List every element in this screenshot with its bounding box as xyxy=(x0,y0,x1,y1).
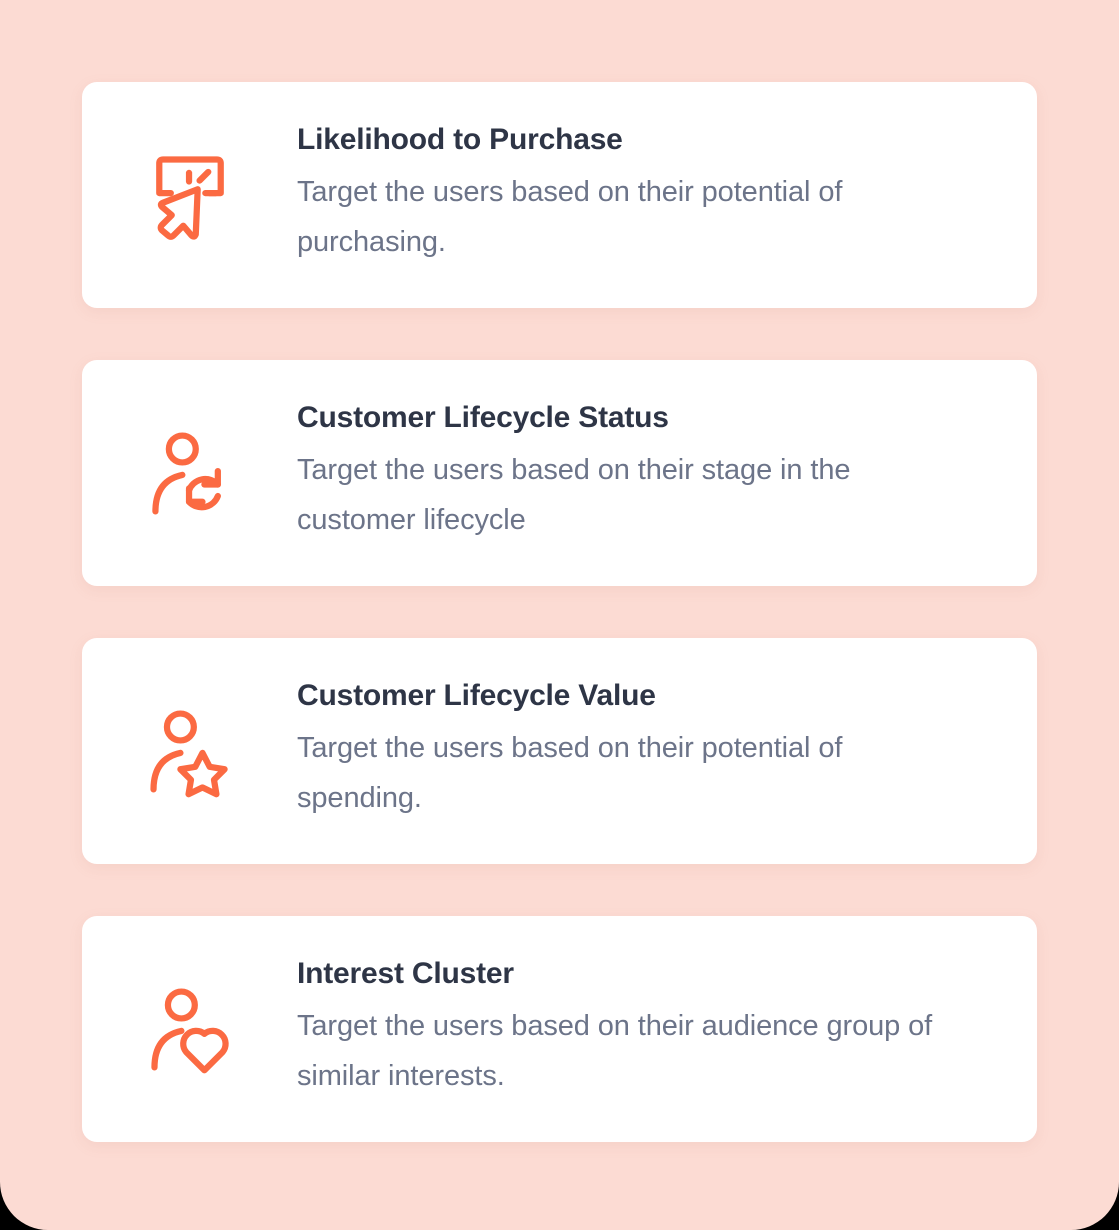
icon-cell xyxy=(82,638,297,864)
text-cell: Interest Cluster Target the users based … xyxy=(297,957,1009,1102)
ad-click-cursor-icon xyxy=(142,147,238,243)
text-cell: Likelihood to Purchase Target the users … xyxy=(297,123,1009,268)
card-description: Target the users based on their audience… xyxy=(297,1002,947,1102)
card-description: Target the users based on their potentia… xyxy=(297,168,947,268)
feature-card-customer-lifecycle-status[interactable]: Customer Lifecycle Status Target the use… xyxy=(82,360,1037,586)
card-description: Target the users based on their stage in… xyxy=(297,446,947,546)
icon-cell xyxy=(82,82,297,308)
card-title: Interest Cluster xyxy=(297,957,999,990)
text-cell: Customer Lifecycle Value Target the user… xyxy=(297,679,1009,824)
text-cell: Customer Lifecycle Status Target the use… xyxy=(297,401,1009,546)
card-description: Target the users based on their potentia… xyxy=(297,724,947,824)
feature-card-interest-cluster[interactable]: Interest Cluster Target the users based … xyxy=(82,916,1037,1142)
icon-cell xyxy=(82,916,297,1142)
user-star-icon xyxy=(142,703,238,799)
feature-card-list: Likelihood to Purchase Target the users … xyxy=(82,82,1037,1142)
user-heart-icon xyxy=(142,981,238,1077)
feature-card-customer-lifecycle-value[interactable]: Customer Lifecycle Value Target the user… xyxy=(82,638,1037,864)
card-title: Customer Lifecycle Value xyxy=(297,679,999,712)
feature-card-likelihood-to-purchase[interactable]: Likelihood to Purchase Target the users … xyxy=(82,82,1037,308)
user-lifecycle-refresh-icon xyxy=(142,425,238,521)
card-title: Customer Lifecycle Status xyxy=(297,401,999,434)
icon-cell xyxy=(82,360,297,586)
page-container: Likelihood to Purchase Target the users … xyxy=(0,0,1119,1230)
card-title: Likelihood to Purchase xyxy=(297,123,999,156)
